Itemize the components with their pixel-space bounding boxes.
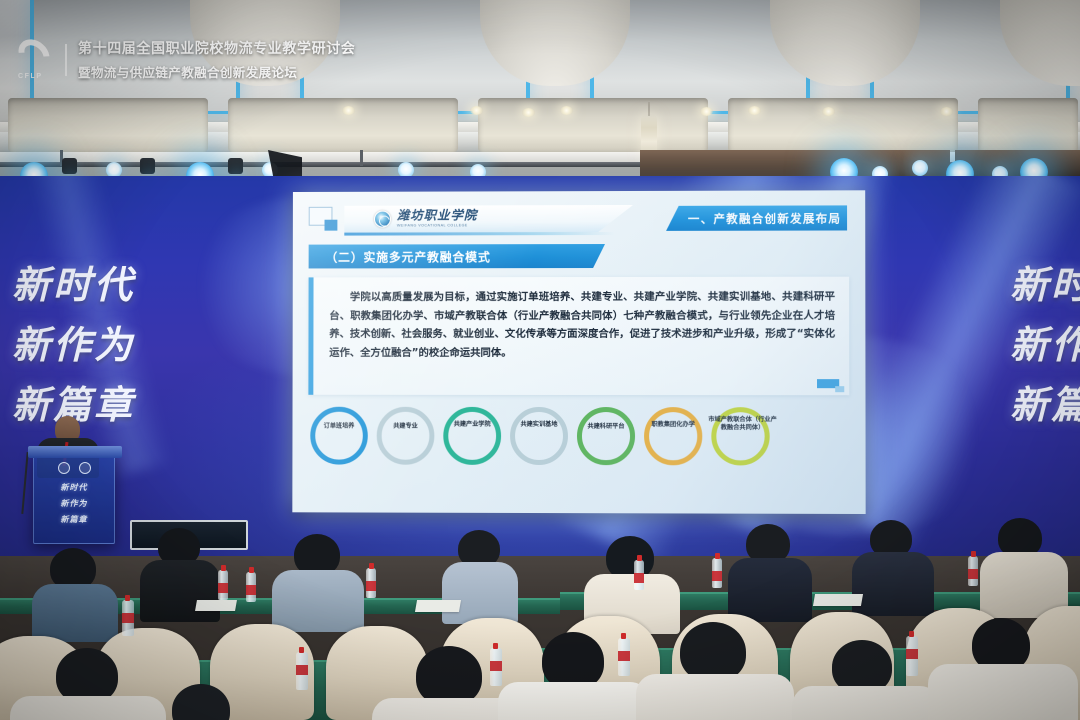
ring-6	[644, 407, 702, 465]
podium-logo-right-icon	[79, 462, 91, 474]
event-watermark: CFLP 第十四届全国职业院校物流专业教学研讨会 暨物流与供应链产教融合创新发展…	[14, 38, 355, 81]
cflp-logo-icon: CFLP	[14, 39, 54, 81]
slide-header: 潍坊职业学院 WEIFANG VOCATIONAL COLLEGE 一、产教融合…	[309, 204, 849, 235]
event-title-line-1: 第十四届全国职业院校物流专业教学研讨会	[78, 38, 355, 58]
podium-line-2: 新作为	[34, 497, 114, 512]
podium-line-1: 新时代	[34, 481, 114, 496]
ring-label-6: 职教集团化办学	[642, 421, 704, 429]
water-bottle	[246, 572, 256, 602]
ring-label-1: 订单班培养	[308, 423, 369, 431]
decor-chip-icon	[817, 379, 839, 388]
ring-label-3: 共建产业学院	[441, 421, 503, 429]
slide-subtitle: （二）实施多元产教融合模式	[309, 244, 605, 268]
water-bottle	[218, 570, 228, 600]
slide-body-text: 学院以高质量发展为目标，通过实施订单班培养、共建专业、共建产业学院、共建实训基地…	[329, 288, 835, 362]
water-bottle	[296, 652, 308, 690]
projection-screen: 潍坊职业学院 WEIFANG VOCATIONAL COLLEGE 一、产教融合…	[292, 190, 865, 514]
ring-label-4: 共建实训基地	[508, 421, 570, 429]
water-bottle	[122, 600, 134, 636]
slide-section-tab: 一、产教融合创新发展布局	[666, 205, 847, 230]
water-bottle	[712, 558, 722, 588]
ring-2	[377, 407, 435, 465]
led-left-line-2: 新作为	[12, 314, 135, 369]
water-bottle	[490, 648, 502, 686]
ring-4	[510, 407, 568, 465]
water-bottle	[366, 568, 376, 598]
podium: 新时代 新作为 新篇章	[33, 452, 115, 544]
event-title-line-2: 暨物流与供应链产教融合创新发展论坛	[78, 62, 355, 81]
college-name-cn: 潍坊职业学院	[397, 210, 478, 223]
ring-chain-diagram: 订单班培养 共建专业 共建产业学院 共建实训基地 共建科研平台 职教集团化办学 …	[308, 403, 849, 470]
water-bottle	[618, 638, 630, 676]
water-bottle	[968, 556, 978, 586]
ring-label-2: 共建专业	[375, 423, 437, 431]
led-left-line-1: 新时代	[12, 254, 135, 309]
podium-logo-left-icon	[58, 462, 70, 474]
ring-1	[310, 407, 368, 465]
slide-org-bar: 潍坊职业学院 WEIFANG VOCATIONAL COLLEGE	[344, 205, 633, 233]
water-bottle	[906, 636, 918, 676]
ring-5	[577, 407, 635, 465]
conference-hall-scene: 新时代 新作为 新篇章 新时代 新作为 新篇章 第十四届全国职业院校物流专业教学…	[0, 0, 1080, 720]
decor-square-icon	[309, 207, 333, 226]
college-name-en: WEIFANG VOCATIONAL COLLEGE	[397, 224, 478, 228]
ring-label-7: 市域产教联合体（行业产教融合共同体）	[705, 416, 779, 432]
led-right-line-1: 新时代	[1010, 254, 1080, 309]
water-bottle	[634, 560, 644, 590]
ring-label-5: 共建科研平台	[575, 423, 637, 431]
led-right-line-2: 新作为	[1010, 314, 1080, 369]
college-logo-icon	[374, 211, 391, 228]
watermark-divider	[65, 44, 67, 76]
podium-line-3: 新篇章	[34, 513, 114, 528]
slide-body-card: 学院以高质量发展为目标，通过实施订单班培养、共建专业、共建产业学院、共建实训基地…	[308, 277, 849, 396]
cflp-logo-text: CFLP	[18, 73, 58, 80]
led-right-line-3: 新篇章	[1010, 374, 1080, 429]
ring-3	[443, 407, 501, 465]
